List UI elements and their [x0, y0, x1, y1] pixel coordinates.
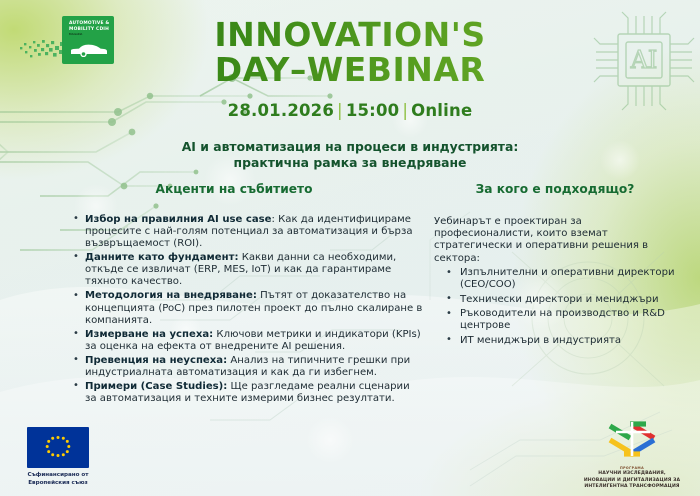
- highlights-list: Избор на правилния AI use case: Как да и…: [72, 214, 424, 406]
- list-item-bold: Данните като фундамент:: [85, 252, 238, 263]
- content-columns: Акценти на събитието Избор на правилния …: [0, 182, 700, 407]
- programme-caption-line-2: ИНОВАЦИИ И ДИГИТАЛИЗАЦИЯ ЗА: [574, 478, 690, 484]
- list-item: Избор на правилния AI use case: Как да и…: [72, 214, 424, 251]
- subtitle-line-2: практична рамка за внедряване: [110, 155, 590, 171]
- audience-intro: Уебинарът е проектиран за професионалист…: [434, 216, 700, 266]
- programme-kicker: ПРОГРАМА: [574, 466, 690, 470]
- highlights-column: Акценти на събитието Избор на правилния …: [0, 182, 424, 407]
- list-item: ИТ мениджъри в индустрията: [446, 335, 700, 347]
- audience-list: Изпълнителни и оперативни директори (CEO…: [434, 267, 700, 347]
- list-item: Ръководители на производство и R&D центр…: [446, 308, 700, 333]
- programme-caption-line-3: ИНТЕЛИГЕНТНА ТРАНСФОРМАЦИЯ: [574, 484, 690, 490]
- subtitle-line-1: AI и автоматизация на процеси в индустри…: [110, 139, 590, 155]
- page-title: INNOVATION'S DAY–WEBINAR: [0, 17, 700, 87]
- list-item: Примери (Case Studies): Ще разгледаме ре…: [72, 381, 424, 406]
- webinar-poster: AUTOMOTIVE & MOBILITY CDIH BULGARIA A: [0, 0, 700, 496]
- list-item: Измерване на успеха: Ключови метрики и и…: [72, 329, 424, 354]
- programme-block: ПРОГРАМА НАУЧНИ ИЗСЛЕДВАНИЯ, ИНОВАЦИИ И …: [574, 420, 690, 490]
- list-item: Технически директори и мениджъри: [446, 294, 700, 306]
- title-block: INNOVATION'S DAY–WEBINAR 28.01.2026|15:0…: [0, 17, 700, 120]
- event-format: Online: [411, 101, 472, 120]
- programme-logo-icon: [600, 420, 664, 460]
- eu-caption-line-2: Европейския съюз: [14, 480, 102, 487]
- title-line-2: DAY–WEBINAR: [130, 52, 570, 87]
- highlights-heading: Акценти на събитието: [72, 182, 424, 197]
- list-item: Методология на внедряване: Пътят от дока…: [72, 290, 424, 327]
- list-item-bold: Примери (Case Studies):: [85, 381, 227, 392]
- audience-heading: За кого е подходящо?: [434, 182, 700, 197]
- list-item-bold: Методология на внедряване:: [85, 290, 257, 301]
- title-line-1: INNOVATION'S: [130, 17, 570, 52]
- list-item-bold: Превенция на неуспеха:: [85, 355, 227, 366]
- eu-funding-caption: Съфинансирано от Европейския съюз: [14, 472, 102, 487]
- list-item: Превенция на неуспеха: Анализ на типични…: [72, 355, 424, 380]
- meta-separator-1: |: [334, 101, 346, 120]
- meta-separator-2: |: [399, 101, 411, 120]
- event-meta: 28.01.2026|15:00|Online: [0, 101, 700, 120]
- event-subtitle: AI и автоматизация на процеси в индустри…: [0, 139, 700, 170]
- list-item-bold: Избор на правилния AI use case: [85, 214, 272, 225]
- list-item: Данните като фундамент: Какви данни са н…: [72, 252, 424, 289]
- event-time: 15:00: [346, 101, 400, 120]
- event-date: 28.01.2026: [228, 101, 334, 120]
- eu-funding-block: Съфинансирано от Европейския съюз: [14, 427, 102, 487]
- list-item: Изпълнителни и оперативни директори (CEO…: [446, 267, 700, 292]
- audience-column: За кого е подходящо? Уебинарът е проекти…: [424, 182, 700, 407]
- programme-caption: НАУЧНИ ИЗСЛЕДВАНИЯ, ИНОВАЦИИ И ДИГИТАЛИЗ…: [574, 471, 690, 490]
- eu-caption-line-1: Съфинансирано от: [14, 472, 102, 479]
- list-item-bold: Измерване на успеха:: [85, 329, 213, 340]
- eu-flag-icon: [27, 427, 89, 468]
